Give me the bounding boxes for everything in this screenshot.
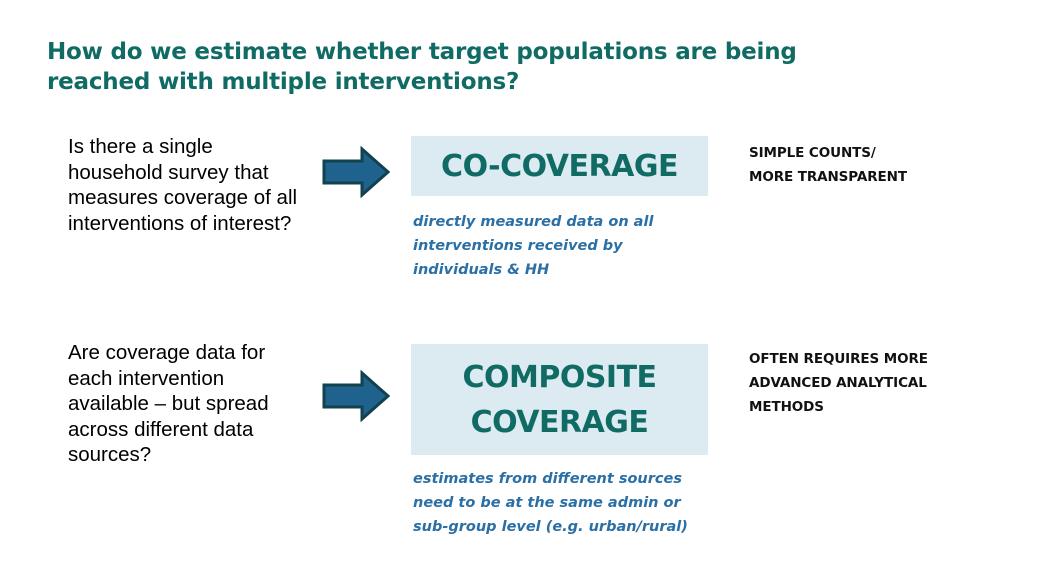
page-title: How do we estimate whether target popula… [47, 37, 847, 97]
question-text-composite: Are coverage data for each intervention … [68, 340, 298, 468]
concept-box-composite: COMPOSITE COVERAGE [411, 344, 708, 455]
side-note-line: METHODS [749, 395, 1019, 419]
caption-line: sub-group level (e.g. urban/rural) [413, 515, 713, 539]
question-line: intervention [118, 367, 224, 390]
question-line: Is there a single [68, 135, 213, 158]
question-line: available – but [68, 392, 200, 415]
flow-row-cocoverage: Is there a single household survey that … [0, 120, 1051, 310]
concept-caption-cocoverage: directly measured data on all interventi… [413, 210, 713, 282]
caption-line: directly measured data on all [413, 210, 713, 234]
question-line: interest? [213, 212, 292, 235]
question-line: interventions of [68, 212, 207, 235]
caption-line: need to be at the same admin or [413, 491, 713, 515]
question-line: sources? [68, 443, 151, 466]
caption-line: interventions received by [413, 234, 713, 258]
page-title-line-1: How do we estimate whether target popula… [47, 37, 847, 67]
question-line: different data [134, 418, 253, 441]
right-block-arrow-icon [322, 146, 390, 198]
question-line: Are coverage data [68, 341, 236, 364]
side-note-cocoverage: SIMPLE COUNTS/ MORE TRANSPARENT [749, 141, 1019, 189]
concept-label-composite: COMPOSITE COVERAGE [462, 355, 656, 445]
flow-row-composite: Are coverage data for each intervention … [0, 330, 1051, 560]
page-title-line-2: reached with multiple interventions? [47, 67, 847, 97]
side-note-line: MORE TRANSPARENT [749, 165, 1019, 189]
concept-label-line: COVERAGE [462, 400, 656, 445]
side-note-line: ADVANCED ANALYTICAL [749, 371, 1019, 395]
side-note-composite: OFTEN REQUIRES MORE ADVANCED ANALYTICAL … [749, 347, 1019, 419]
caption-line: individuals & HH [413, 258, 713, 282]
question-line: household survey [68, 161, 229, 184]
caption-line: estimates from different sources [413, 467, 713, 491]
concept-caption-composite: estimates from different sources need to… [413, 467, 713, 539]
concept-label-line: CO-COVERAGE [441, 147, 678, 186]
side-note-line: OFTEN REQUIRES MORE [749, 347, 1019, 371]
right-block-arrow-icon [322, 370, 390, 422]
concept-box-cocoverage: CO-COVERAGE [411, 136, 708, 196]
question-text-cocoverage: Is there a single household survey that … [68, 134, 298, 236]
concept-label-line: COMPOSITE [462, 355, 656, 400]
concept-label-cocoverage: CO-COVERAGE [441, 147, 678, 186]
side-note-line: SIMPLE COUNTS/ [749, 141, 1019, 165]
question-line: coverage of all [164, 186, 297, 209]
